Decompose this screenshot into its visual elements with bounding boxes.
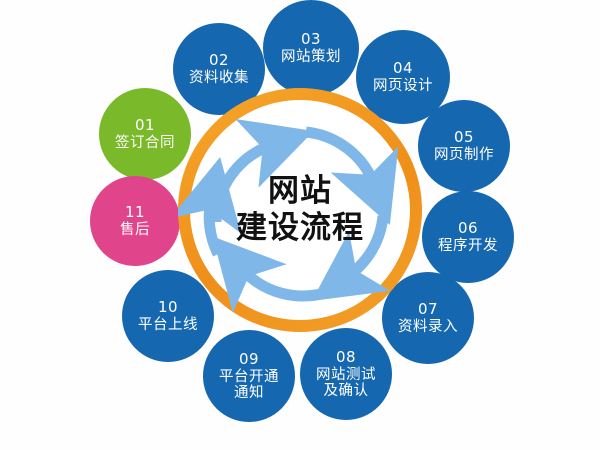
step-node-03[interactable]: 03网站策划 xyxy=(263,0,359,96)
step-label: 网页制作 xyxy=(434,147,494,163)
step-label: 程序开发 xyxy=(438,238,498,254)
step-label-line: 资料收集 xyxy=(189,70,249,86)
step-number: 03 xyxy=(301,31,321,48)
step-number: 10 xyxy=(158,299,178,316)
step-label-line: 售后 xyxy=(120,222,150,238)
center-title-line1: 网站 xyxy=(268,173,332,210)
step-node-05[interactable]: 05网页制作 xyxy=(418,100,510,192)
center-title: 网站 建设流程 xyxy=(178,88,422,332)
step-number: 04 xyxy=(393,60,413,77)
step-label: 售后 xyxy=(120,222,150,238)
step-label-line: 网页制作 xyxy=(434,147,494,163)
step-number: 05 xyxy=(454,129,474,146)
step-label: 平台开通通知 xyxy=(219,369,279,401)
step-node-08[interactable]: 08网站测试及确认 xyxy=(300,328,392,420)
step-number: 02 xyxy=(209,52,229,69)
center-title-line2: 建设流程 xyxy=(236,210,364,247)
step-label-line: 网站策划 xyxy=(281,49,341,65)
step-number: 11 xyxy=(125,204,145,221)
step-number: 09 xyxy=(239,351,259,368)
step-label-line: 平台开通 xyxy=(219,369,279,385)
step-label-line: 网站测试 xyxy=(316,367,376,383)
step-number: 08 xyxy=(336,349,356,366)
step-node-11[interactable]: 11售后 xyxy=(90,176,180,266)
step-number: 06 xyxy=(458,220,478,237)
step-node-09[interactable]: 09平台开通通知 xyxy=(203,330,295,422)
step-label: 网站测试及确认 xyxy=(316,367,376,399)
step-label-line: 签订合同 xyxy=(115,135,175,151)
step-node-06[interactable]: 06程序开发 xyxy=(422,191,514,283)
step-label: 资料收集 xyxy=(189,70,249,86)
step-label-line: 程序开发 xyxy=(438,238,498,254)
step-label-line: 通知 xyxy=(219,385,279,401)
step-number: 01 xyxy=(135,117,155,134)
process-diagram: 01签订合同02资料收集03网站策划04网页设计05网页制作06程序开发07资料… xyxy=(0,0,600,450)
step-label-line: 及确认 xyxy=(316,383,376,399)
step-label: 签订合同 xyxy=(115,135,175,151)
step-label: 网站策划 xyxy=(281,49,341,65)
